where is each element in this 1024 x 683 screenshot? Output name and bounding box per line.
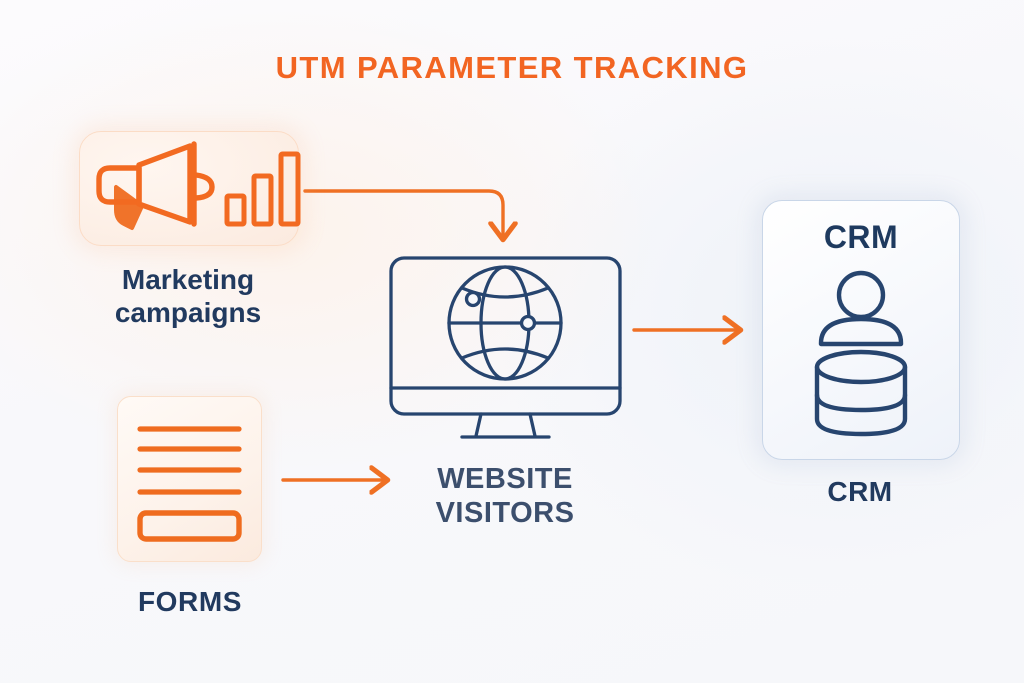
- bar-3: [281, 154, 298, 224]
- marketing-campaigns-label-line-2: campaigns: [48, 297, 328, 330]
- user-database-icon: [763, 201, 959, 459]
- database-top: [817, 352, 905, 382]
- globe-parallel-lower: [462, 349, 548, 358]
- user-shoulders: [821, 319, 901, 344]
- crm-card[interactable]: CRM: [762, 200, 960, 460]
- page-title: UTM PARAMETER TRACKING: [0, 50, 1024, 86]
- connector-marketing-to-website: [305, 191, 503, 237]
- database-divider: [817, 395, 905, 410]
- crm-label: CRM: [750, 476, 970, 509]
- form-submit-button-shape: [140, 513, 239, 539]
- crm-label-line-1: CRM: [750, 476, 970, 509]
- marketing-campaigns-card[interactable]: [79, 131, 299, 246]
- website-visitors-label-line-1: WEBSITE: [370, 463, 640, 497]
- monitor-globe-icon: [388, 255, 623, 445]
- user-head: [839, 273, 883, 317]
- bar-2: [254, 176, 271, 224]
- form-document-icon: [118, 397, 261, 561]
- website-visitors-label: WEBSITE VISITORS: [370, 463, 640, 531]
- forms-card[interactable]: [117, 396, 262, 562]
- marketing-campaigns-label: Marketing campaigns: [48, 264, 328, 330]
- marketing-campaigns-label-line-1: Marketing: [48, 264, 328, 297]
- forms-label-line-1: FORMS: [80, 586, 300, 619]
- website-visitors-monitor[interactable]: [388, 255, 623, 445]
- globe-node-1: [467, 293, 480, 306]
- website-visitors-label-line-2: VISITORS: [370, 497, 640, 531]
- forms-label: FORMS: [80, 586, 300, 619]
- diagram-canvas: UTM PARAMETER TRACKING: [0, 0, 1024, 683]
- bar-1: [227, 196, 244, 224]
- megaphone-bar-chart-icon: [80, 132, 298, 245]
- globe-node-2: [522, 317, 535, 330]
